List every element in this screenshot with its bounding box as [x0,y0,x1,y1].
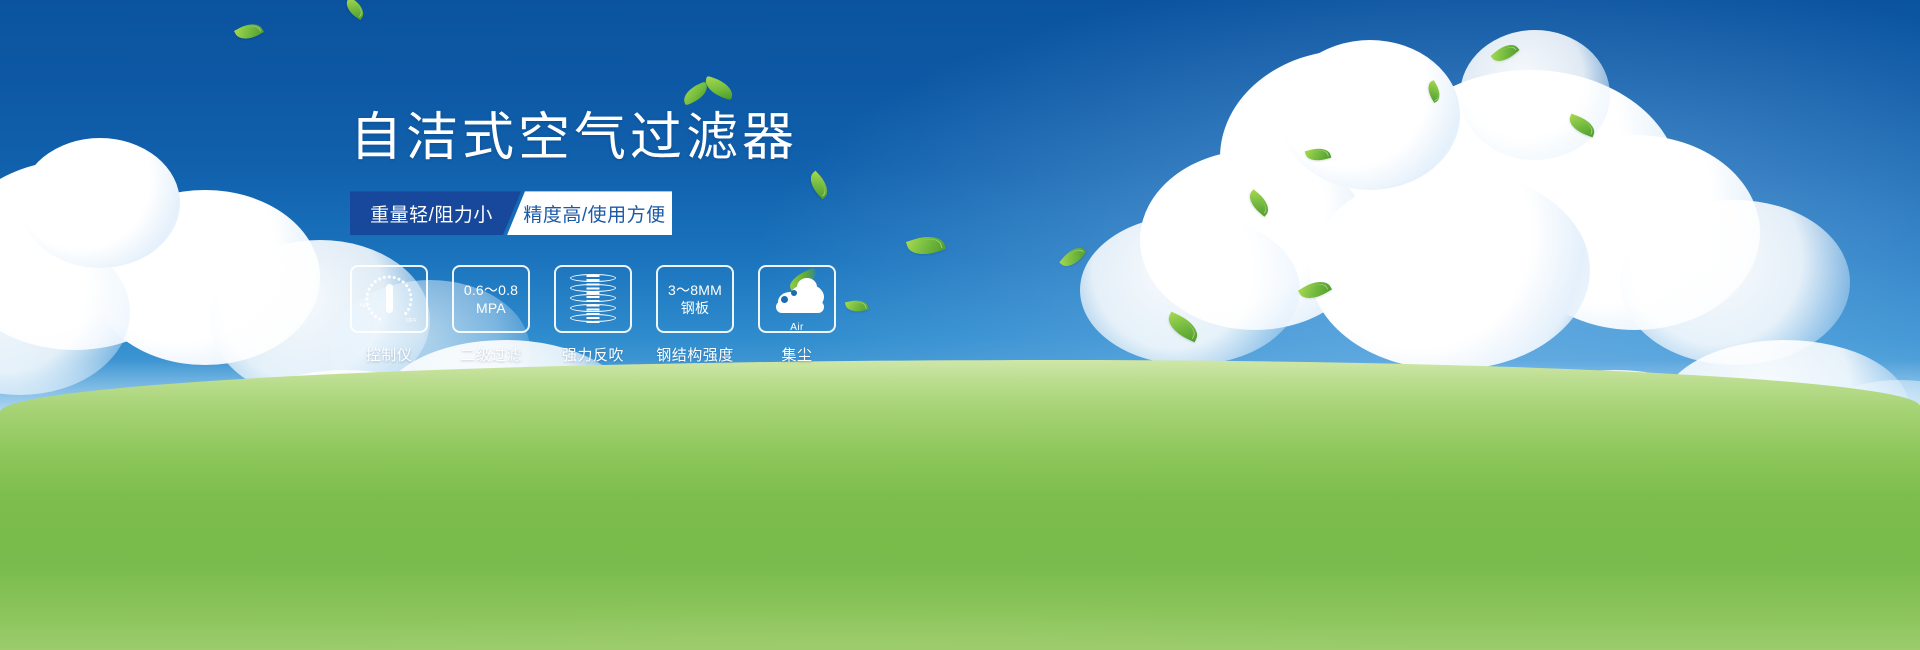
tab-highprecision-easyuse[interactable]: 精度高/使用方便 [507,191,672,235]
tab-lightweight-lowresistance[interactable]: 重量轻/阻力小 [350,191,521,235]
feature-box: NO OFF [350,265,428,333]
feature-item-steel-strength[interactable]: 3～8MM 钢板 钢结构强度 [656,265,734,365]
feature-label: 钢结构强度 [656,344,734,365]
feature-box: 0.6～0.8 MPA [452,265,530,333]
cloud-air-icon: Air [766,274,828,324]
gauge-label-off: OFF [406,318,417,324]
feature-value-line-2: MPA [476,299,506,317]
feature-item-secondary-filter[interactable]: 0.6～0.8 MPA 二级过滤 [452,265,530,365]
leaf-pair-icon [682,80,738,114]
feature-box: 3～8MM 钢板 [656,265,734,333]
page-title: 自洁式空气过滤器 [350,108,970,169]
feature-label: 二级过滤 [452,344,530,365]
feature-label: 控制仪 [350,344,428,365]
feature-item-backblow[interactable]: 强力反吹 [554,265,632,365]
feature-tabs: 重量轻/阻力小 精度高/使用方便 [350,191,672,235]
feature-value-line-2: 钢板 [681,299,709,317]
feature-label: 集尘 [758,344,836,365]
feature-box [554,265,632,333]
feature-value-line-1: 3～8MM [668,281,722,299]
feature-item-dust-collection[interactable]: Air 集尘 [758,265,836,365]
product-hero-banner: 自洁式空气过滤器 重量轻/阻力小 精度高/使用方便 [0,0,1920,650]
grass-highlight [0,520,1920,650]
feature-box: Air [758,265,836,333]
feature-list: NO OFF 控制仪 0.6～0.8 MPA 二级过滤 [350,265,970,365]
feature-item-controller[interactable]: NO OFF 控制仪 [350,265,428,365]
air-label: Air [766,322,828,333]
banner-content: 自洁式空气过滤器 重量轻/阻力小 精度高/使用方便 [350,108,970,365]
feature-label: 强力反吹 [554,344,632,365]
feature-value-line-1: 0.6～0.8 [464,281,518,299]
gauge-control-icon: NO OFF [359,273,419,325]
coil-filter-icon [567,272,619,326]
gauge-label-no: NO [360,303,368,309]
